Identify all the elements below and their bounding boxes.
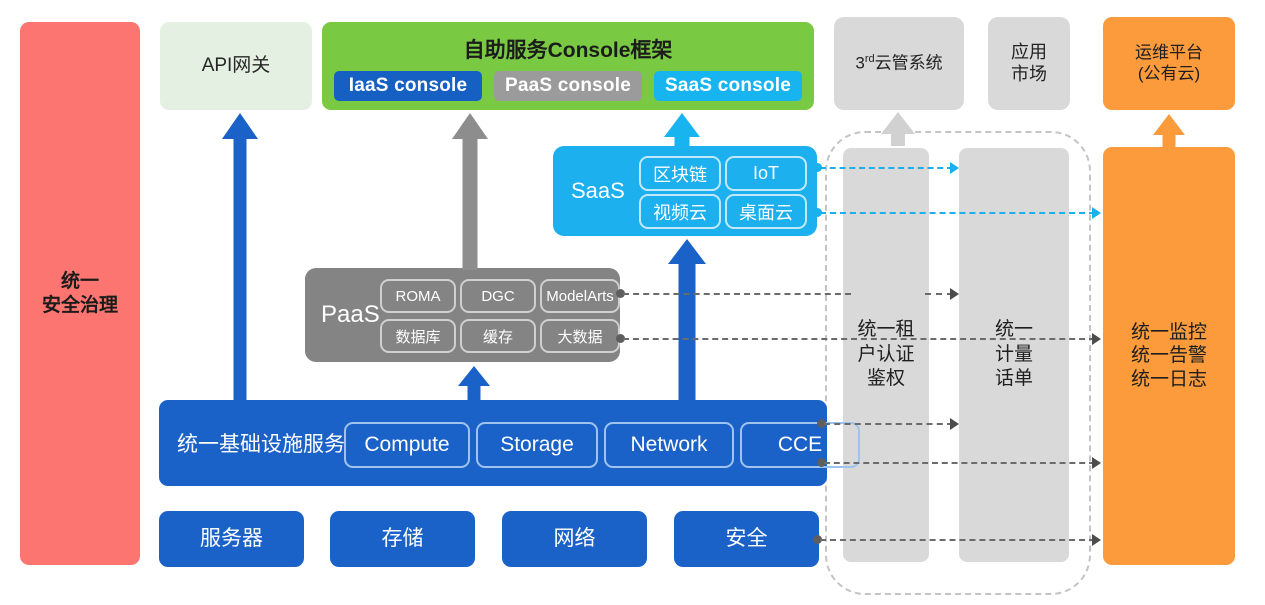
hardware-box-network[interactable]: 网络 bbox=[502, 511, 647, 567]
console-chip-paas[interactable]: PaaS console bbox=[494, 71, 642, 101]
console-chip-saas-label: SaaS console bbox=[665, 75, 791, 97]
auth-line-3: 鉴权 bbox=[857, 367, 914, 392]
arrow-saas-to-console bbox=[664, 113, 700, 148]
connector-infra-to-ops bbox=[824, 462, 1095, 464]
connector-auth-to-billing bbox=[925, 293, 953, 295]
paas-item-dgc-label: DGC bbox=[481, 288, 514, 305]
arrow-to-third-party-cloud bbox=[880, 112, 916, 146]
app-market-box[interactable]: 应用 市场 bbox=[988, 17, 1070, 110]
shared-column-auth: 统一租 户认证 鉴权 bbox=[843, 148, 929, 562]
shared-column-billing: 统一 计量 话单 bbox=[959, 148, 1069, 562]
connector-saas-to-ops bbox=[820, 212, 1095, 214]
ops-top-line-2: (公有云) bbox=[1135, 64, 1203, 85]
arrowhead-infra-to-billing bbox=[950, 418, 959, 430]
api-gateway-box[interactable]: API网关 bbox=[160, 22, 312, 110]
infra-item-cce-label: CCE bbox=[778, 433, 822, 457]
app-market-line-1: 应用 bbox=[1011, 42, 1047, 64]
paas-item-roma-label: ROMA bbox=[396, 288, 441, 305]
paas-item-bigdata-label: 大数据 bbox=[557, 326, 602, 347]
console-chip-iaas[interactable]: IaaS console bbox=[334, 71, 482, 101]
infrastructure-label: 统一基础设施服务 bbox=[177, 428, 345, 458]
console-chip-paas-label: PaaS console bbox=[505, 75, 631, 97]
arrowhead-infra-to-ops bbox=[1092, 457, 1101, 469]
hardware-box-security-label: 安全 bbox=[726, 526, 768, 552]
paas-item-database[interactable]: 数据库 bbox=[380, 319, 456, 353]
arrowhead-auth-to-billing bbox=[950, 288, 959, 300]
paas-item-cache-label: 缓存 bbox=[483, 326, 513, 347]
arrow-infra-to-api-gateway bbox=[222, 113, 258, 401]
console-chip-saas[interactable]: SaaS console bbox=[654, 71, 802, 101]
connector-hardware-to-ops bbox=[820, 539, 1095, 541]
paas-item-database-label: 数据库 bbox=[395, 326, 440, 347]
saas-item-video-cloud-label: 视频云 bbox=[653, 199, 707, 225]
app-market-line-2: 市场 bbox=[1011, 64, 1047, 86]
infra-item-compute-label: Compute bbox=[364, 433, 449, 457]
paas-block-label: PaaS bbox=[321, 301, 380, 329]
billing-line-3: 话单 bbox=[995, 367, 1033, 392]
saas-item-iot[interactable]: IoT bbox=[725, 156, 807, 191]
infrastructure-bar[interactable]: 统一基础设施服务 Compute Storage Network CCE bbox=[159, 400, 827, 486]
hardware-box-storage-label: 存储 bbox=[382, 526, 424, 552]
security-governance-panel[interactable]: 统一 安全治理 bbox=[20, 22, 140, 565]
hardware-box-server[interactable]: 服务器 bbox=[159, 511, 304, 567]
security-line-2: 安全治理 bbox=[42, 294, 118, 317]
arrow-infra-to-paas bbox=[458, 366, 490, 402]
console-chip-iaas-label: IaaS console bbox=[349, 75, 468, 97]
infra-item-storage-label: Storage bbox=[500, 433, 574, 457]
paas-item-cache[interactable]: 缓存 bbox=[460, 319, 536, 353]
ops-panel-line-1: 统一监控 bbox=[1131, 321, 1207, 344]
hardware-box-security[interactable]: 安全 bbox=[674, 511, 819, 567]
hardware-box-server-label: 服务器 bbox=[200, 526, 263, 552]
third-party-superscript: rd bbox=[865, 53, 875, 65]
connector-paas-to-ops bbox=[623, 338, 1095, 340]
infra-item-network-label: Network bbox=[630, 433, 707, 457]
arrow-infra-to-saas bbox=[669, 239, 705, 401]
arrowhead-hardware-to-ops bbox=[1092, 534, 1101, 546]
connector-paas-to-auth bbox=[623, 293, 851, 295]
connector-infra-to-billing bbox=[824, 423, 953, 425]
saas-item-blockchain-label: 区块链 bbox=[653, 161, 707, 187]
paas-block[interactable]: PaaS ROMA DGC ModelArts 数据库 缓存 大数据 bbox=[305, 268, 620, 362]
ops-monitoring-panel[interactable]: 统一监控 统一告警 统一日志 bbox=[1103, 147, 1235, 565]
arrow-to-ops-platform bbox=[1152, 114, 1186, 147]
ops-panel-line-3: 统一日志 bbox=[1131, 368, 1207, 391]
arrowhead-saas-to-ops bbox=[1092, 207, 1101, 219]
hardware-box-network-label: 网络 bbox=[554, 526, 596, 552]
saas-block[interactable]: SaaS 区块链 IoT 视频云 桌面云 bbox=[553, 146, 817, 236]
connector-saas-to-billing bbox=[820, 167, 953, 169]
architecture-diagram: 统一租 户认证 鉴权 统一 计量 话单 统一 安全治理 API网关 自助服务Co… bbox=[0, 0, 1265, 605]
saas-item-blockchain[interactable]: 区块链 bbox=[639, 156, 721, 191]
auth-line-2: 户认证 bbox=[857, 343, 914, 368]
billing-line-2: 计量 bbox=[995, 343, 1033, 368]
arrowhead-saas-to-billing bbox=[950, 162, 959, 174]
saas-block-label: SaaS bbox=[571, 178, 625, 204]
paas-item-bigdata[interactable]: 大数据 bbox=[540, 319, 620, 353]
arrowhead-paas-to-ops bbox=[1092, 333, 1101, 345]
console-framework-box[interactable]: 自助服务Console框架 IaaS console PaaS console … bbox=[322, 22, 814, 110]
saas-item-video-cloud[interactable]: 视频云 bbox=[639, 194, 721, 229]
ops-top-line-1: 运维平台 bbox=[1135, 43, 1203, 64]
ops-panel-line-2: 统一告警 bbox=[1131, 344, 1207, 367]
infra-item-network[interactable]: Network bbox=[604, 422, 734, 468]
infra-item-compute[interactable]: Compute bbox=[344, 422, 470, 468]
saas-item-desktop-cloud[interactable]: 桌面云 bbox=[725, 194, 807, 229]
security-line-1: 统一 bbox=[42, 270, 118, 293]
paas-item-modelarts[interactable]: ModelArts bbox=[540, 279, 620, 313]
api-gateway-label: API网关 bbox=[202, 54, 271, 77]
paas-item-dgc[interactable]: DGC bbox=[460, 279, 536, 313]
saas-item-iot-label: IoT bbox=[753, 163, 779, 184]
console-framework-title: 自助服务Console框架 bbox=[322, 34, 814, 64]
third-party-label: 3rd云管系统 bbox=[855, 53, 942, 74]
arrow-paas-to-console bbox=[452, 113, 488, 270]
paas-item-roma[interactable]: ROMA bbox=[380, 279, 456, 313]
infra-item-storage[interactable]: Storage bbox=[476, 422, 598, 468]
hardware-box-storage[interactable]: 存储 bbox=[330, 511, 475, 567]
third-party-cloud-mgmt-box[interactable]: 3rd云管系统 bbox=[834, 17, 964, 110]
paas-item-modelarts-label: ModelArts bbox=[546, 288, 614, 305]
saas-item-desktop-cloud-label: 桌面云 bbox=[739, 199, 793, 225]
ops-platform-top-box[interactable]: 运维平台 (公有云) bbox=[1103, 17, 1235, 110]
